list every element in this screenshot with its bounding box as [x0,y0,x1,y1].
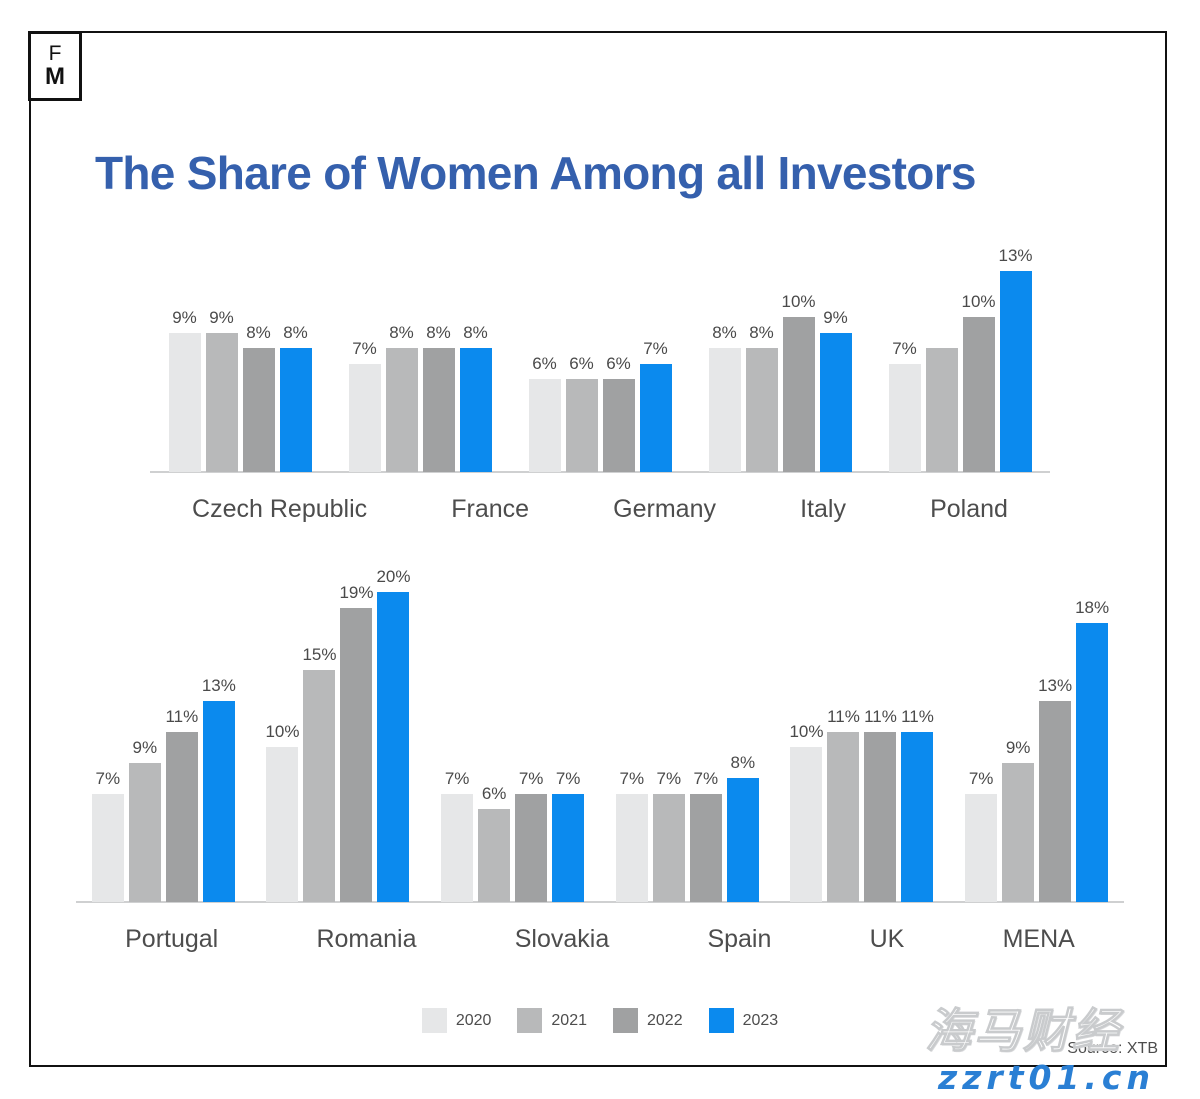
fm-logo: F M [28,31,82,101]
bar-2021 [129,763,161,903]
bar-2021 [303,670,335,903]
bar-item: 9% [206,308,238,473]
bar-item: 15% [303,645,335,903]
bar-value-label: 10% [789,722,823,742]
bar-2020 [266,747,298,902]
legend-swatch-icon [422,1008,447,1033]
bar-value-label: 7% [445,769,470,789]
bar-2021 [386,348,418,472]
legend-swatch-icon [613,1008,638,1033]
watermark-url: zzrt01.cn [938,1058,1155,1097]
bar-item: 6% [603,354,635,472]
category-label: Italy [800,495,846,524]
bar-value-label: 7% [694,769,719,789]
bar-group: 7%8%8%8% [349,230,492,472]
legend-label: 2020 [456,1012,492,1030]
bar-2023 [901,732,933,903]
bar-item: 11% [901,707,933,903]
legend-item[interactable]: 2020 [422,1008,492,1033]
bar-2021 [206,333,238,473]
bar-value-label: 10% [961,292,995,312]
bar-item: 7% [515,769,547,903]
source-note: Source: XTB [1067,1040,1158,1058]
category-label: Poland [930,495,1008,524]
bar-cluster: 9%9%8%8% [169,308,312,473]
bar-2023 [460,348,492,472]
bar-2021 [827,732,859,903]
bar-item: 8% [727,753,759,902]
bar-2020 [709,348,741,472]
bar-item: 10% [963,292,995,472]
category-label: Slovakia [515,925,610,954]
bar-group: 9%9%8%8% [169,230,312,472]
bar-item: 7% [653,769,685,903]
bar-value-label: 9% [823,308,848,328]
bar-item: 7% [616,769,648,903]
bar-item: 0% [926,323,958,472]
infographic-page: F M The Share of Women Among all Investo… [0,0,1200,1099]
bar-item: 8% [746,323,778,472]
legend-item[interactable]: 2021 [517,1008,587,1033]
bar-2022 [783,317,815,472]
bar-2022 [1039,701,1071,903]
bar-item: 18% [1076,598,1108,902]
legend-label: 2022 [647,1012,683,1030]
bar-item: 10% [266,722,298,902]
page-title: The Share of Women Among all Investors [95,146,976,200]
bar-item: 19% [340,583,372,903]
bar-item: 7% [349,339,381,473]
bar-value-label: 7% [643,339,668,359]
bar-2021 [926,348,958,472]
bar-item: 11% [827,707,859,903]
category-label: Spain [707,925,771,954]
bar-2020 [349,364,381,473]
bar-2023 [1000,271,1032,473]
bar-cluster: 7%7%7%8% [616,753,759,902]
chart-panel-bottom: 7%9%11%13%10%15%19%20%7%6%7%7%7%7%7%8%10… [76,560,1124,960]
bar-value-label: 20% [376,567,410,587]
bar-value-label: 7% [892,339,917,359]
legend-label: 2023 [743,1012,779,1030]
bar-cluster: 10%15%19%20% [266,567,409,902]
bar-item: 10% [783,292,815,472]
bar-2020 [92,794,124,903]
bar-value-label: 11% [165,707,198,727]
bar-item: 6% [478,784,510,902]
category-label: MENA [1003,925,1075,954]
category-labels-top: Czech RepublicFranceGermanyItalyPoland [150,495,1050,524]
bar-value-label: 7% [620,769,645,789]
bar-value-label: 7% [657,769,682,789]
bar-2020 [169,333,201,473]
bar-group: 7%9%13%18% [965,560,1108,902]
bar-value-label: 7% [96,769,121,789]
bar-2023 [552,794,584,903]
bar-value-label: 10% [781,292,815,312]
bar-value-label: 7% [519,769,544,789]
bar-2023 [280,348,312,472]
bar-value-label: 15% [302,645,336,665]
bar-item: 7% [640,339,672,473]
bar-item: 8% [280,323,312,472]
bar-2022 [340,608,372,903]
bar-group: 6%6%6%7% [529,230,672,472]
bar-item: 7% [552,769,584,903]
bar-value-label: 8% [731,753,756,773]
bar-value-label: 6% [482,784,507,804]
bar-value-label: 8% [712,323,737,343]
bar-item: 8% [386,323,418,472]
bar-item: 10% [790,722,822,902]
bar-group: 7%7%7%8% [616,560,759,902]
bar-cluster: 7%9%13%18% [965,598,1108,902]
bar-value-label: 13% [1038,676,1072,696]
bar-value-label: 7% [352,339,377,359]
bar-groups-bottom: 7%9%11%13%10%15%19%20%7%6%7%7%7%7%7%8%10… [76,560,1124,902]
bar-value-label: 6% [569,354,594,374]
bar-2022 [864,732,896,903]
bar-cluster: 7%8%8%8% [349,323,492,472]
bar-cluster: 10%11%11%11% [790,707,933,903]
bar-item: 9% [129,738,161,903]
category-label: France [451,495,529,524]
bar-2020 [889,364,921,473]
bar-cluster: 8%8%10%9% [709,292,852,472]
bar-item: 7% [441,769,473,903]
bar-2020 [790,747,822,902]
bar-value-label: 8% [283,323,308,343]
bar-value-label: 7% [969,769,994,789]
bar-cluster: 6%6%6%7% [529,339,672,473]
bar-2023 [640,364,672,473]
bar-item: 6% [566,354,598,472]
bar-2020 [529,379,561,472]
bar-item: 9% [820,308,852,473]
bar-item: 9% [1002,738,1034,903]
bar-2023 [377,592,409,902]
bar-item: 13% [203,676,235,903]
bar-2022 [603,379,635,472]
bar-item: 6% [529,354,561,472]
bar-item: 11% [166,707,198,903]
bar-value-label: 13% [998,246,1032,266]
bar-item: 7% [965,769,997,903]
bar-2021 [1002,763,1034,903]
bar-item: 9% [169,308,201,473]
bar-group: 7%0%10%13% [889,230,1032,472]
legend-item[interactable]: 2022 [613,1008,683,1033]
category-label: UK [870,925,905,954]
bar-cluster: 7%9%11%13% [92,676,235,903]
bar-value-label: 8% [749,323,774,343]
bar-item: 13% [1000,246,1032,473]
bar-item: 8% [709,323,741,472]
bar-2022 [963,317,995,472]
bar-value-label: 9% [133,738,158,758]
bar-value-label: 10% [265,722,299,742]
logo-letter-m: M [45,65,65,89]
bar-value-label: 13% [202,676,236,696]
bar-value-label: 19% [339,583,373,603]
bar-item: 11% [864,707,896,903]
bar-value-label: 11% [864,707,897,727]
bar-2021 [746,348,778,472]
bar-2020 [616,794,648,903]
logo-letter-f: F [49,43,62,64]
bar-item: 8% [460,323,492,472]
bar-value-label: 9% [209,308,234,328]
category-label: Portugal [125,925,218,954]
bar-2022 [515,794,547,903]
bar-2023 [203,701,235,903]
bar-2020 [965,794,997,903]
bar-value-label: 7% [556,769,581,789]
bar-2022 [423,348,455,472]
bar-value-label: 9% [1006,738,1031,758]
legend-swatch-icon [517,1008,542,1033]
bar-value-label: 8% [389,323,414,343]
bar-value-label: 6% [606,354,631,374]
bar-groups-top: 9%9%8%8%7%8%8%8%6%6%6%7%8%8%10%9%7%0%10%… [150,230,1050,472]
bar-group: 7%6%7%7% [441,560,584,902]
category-labels-bottom: PortugalRomaniaSlovakiaSpainUKMENA [76,925,1124,954]
bar-item: 13% [1039,676,1071,903]
legend-item[interactable]: 2023 [709,1008,779,1033]
bar-item: 8% [423,323,455,472]
bar-2021 [478,809,510,902]
chart-panel-top: 9%9%8%8%7%8%8%8%6%6%6%7%8%8%10%9%7%0%10%… [150,230,1050,530]
bar-value-label: 11% [901,707,934,727]
bar-cluster: 7%6%7%7% [441,769,584,903]
bar-2021 [653,794,685,903]
bar-value-label: 18% [1075,598,1109,618]
bar-2023 [727,778,759,902]
bar-item: 7% [92,769,124,903]
bar-item: 7% [690,769,722,903]
bar-2022 [166,732,198,903]
bar-value-label: 9% [172,308,197,328]
bar-item: 8% [243,323,275,472]
bar-2023 [820,333,852,473]
category-label: Germany [613,495,716,524]
bar-2022 [690,794,722,903]
bar-cluster: 7%0%10%13% [889,246,1032,473]
bar-group: 7%9%11%13% [92,560,235,902]
bar-value-label: 6% [532,354,557,374]
bar-2023 [1076,623,1108,902]
bar-2022 [243,348,275,472]
chart-legend: 2020202120222023 [0,1008,1200,1033]
bar-value-label: 11% [827,707,860,727]
bar-value-label: 8% [426,323,451,343]
bar-2020 [441,794,473,903]
bar-group: 10%15%19%20% [266,560,409,902]
bar-2021 [566,379,598,472]
legend-label: 2021 [551,1012,587,1030]
bar-item: 7% [889,339,921,473]
bar-group: 8%8%10%9% [709,230,852,472]
legend-swatch-icon [709,1008,734,1033]
bar-group: 10%11%11%11% [790,560,933,902]
bar-item: 20% [377,567,409,902]
bar-value-label: 8% [463,323,488,343]
bar-value-label: 8% [246,323,271,343]
category-label: Romania [316,925,416,954]
category-label: Czech Republic [192,495,367,524]
